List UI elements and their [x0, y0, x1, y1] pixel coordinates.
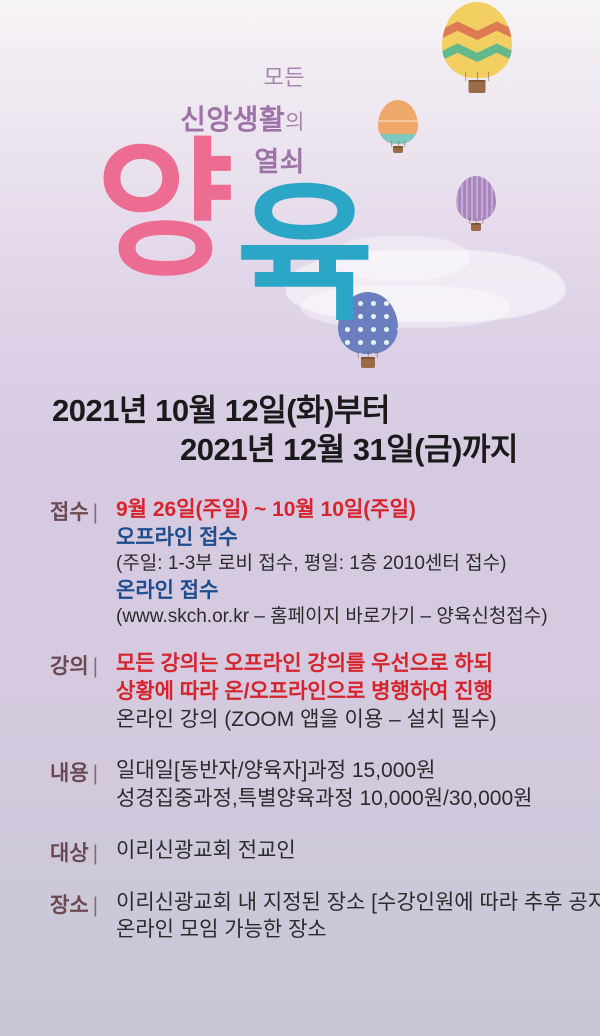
info-label-text: 장소	[50, 894, 89, 917]
info-label-divider: |	[89, 894, 98, 917]
info-line-text: (주일: 1-3부 로비 접수, 평일: 1층 2010센터 접수)	[116, 553, 506, 574]
info-line-text: 일대일[동반자/양육자]과정 15,000원	[116, 759, 435, 782]
page-title: 양 육	[96, 136, 496, 326]
info-line-text: 온라인 모임 가능한 장소	[116, 918, 327, 941]
info-label-text: 접수	[50, 501, 89, 524]
info-label-text: 대상	[50, 842, 89, 865]
info-row-접수: 접수|9월 26일(주일) ~ 10월 10일(주일)오프라인 접수(주일: 1…	[0, 496, 600, 629]
info-row-장소: 장소|이리신광교회 내 지정된 장소 [수강인원에 따라 추후 공지]온라인 모…	[0, 889, 600, 944]
subtitle-line-1: 모든	[264, 60, 305, 92]
info-label-접수: 접수|	[50, 496, 108, 526]
info-label-divider: |	[89, 762, 98, 785]
info-line: 이리신광교회 내 지정된 장소 [수강인원에 따라 추후 공지]	[116, 889, 600, 917]
info-label-text: 강의	[50, 655, 89, 678]
info-label-divider: |	[89, 501, 98, 524]
info-line-text: 상황에 따라 온/오프라인으로 병행하여 진행	[116, 680, 493, 703]
info-line-text: 이리신광교회 내 지정된 장소	[116, 891, 365, 914]
info-line-text: 성경집중과정,특별양육과정 10,000원/30,000원	[116, 787, 532, 810]
info-line-text: 이리신광교회 전교인	[116, 839, 296, 862]
info-line: (www.skch.or.kr – 홈페이지 바로가기 – 양육신청접수)	[116, 604, 600, 629]
headline-block: 모든 신앙생활의 열쇠 양 육	[0, 0, 600, 380]
info-line: 상황에 따라 온/오프라인으로 병행하여 진행	[116, 678, 600, 706]
info-line: 이리신광교회 전교인	[116, 837, 600, 865]
period-end: 2021년 12월 31일(금)까지	[0, 431, 600, 470]
info-line: 온라인 모임 가능한 장소	[116, 916, 600, 944]
title-char-yuk: 육	[236, 180, 374, 330]
info-line-text: 9월 26일(주일) ~ 10월 10일(주일)	[116, 498, 416, 521]
period-block: 2021년 10월 12일(화)부터 2021년 12월 31일(금)까지	[0, 392, 600, 470]
info-label-강의: 강의|	[50, 650, 108, 680]
info-label-divider: |	[89, 655, 98, 678]
info-line-text: 오프라인 접수	[116, 526, 238, 549]
info-label-장소: 장소|	[50, 889, 108, 919]
info-label-divider: |	[89, 842, 98, 865]
info-line: 일대일[동반자/양육자]과정 15,000원	[116, 757, 600, 785]
info-label-내용: 내용|	[50, 757, 108, 787]
info-label-대상: 대상|	[50, 837, 108, 867]
info-row-내용: 내용|일대일[동반자/양육자]과정 15,000원성경집중과정,특별양육과정 1…	[0, 757, 600, 812]
info-line-text: (www.skch.or.kr – 홈페이지 바로가기 – 양육신청접수)	[116, 606, 548, 627]
info-line-text: 온라인 접수	[116, 579, 218, 602]
info-line: 9월 26일(주일) ~ 10월 10일(주일)	[116, 496, 600, 524]
info-line: 모든 강의는 오프라인 강의를 우선으로 하되	[116, 650, 600, 678]
info-line: 성경집중과정,특별양육과정 10,000원/30,000원	[116, 785, 600, 813]
poster-canvas: 모든 신앙생활의 열쇠 양 육 2021년 10월 12일(화)부터 2021년…	[0, 0, 600, 1036]
info-line: 오프라인 접수	[116, 524, 600, 552]
subtitle-line-2-tail: 의	[285, 111, 305, 134]
info-line: 온라인 강의 (ZOOM 앱을 이용 – 설치 필수)	[116, 706, 600, 734]
info-row-대상: 대상|이리신광교회 전교인	[0, 837, 600, 865]
period-start: 2021년 10월 12일(화)부터	[0, 392, 600, 431]
title-char-yang: 양	[96, 136, 234, 286]
info-row-강의: 강의|모든 강의는 오프라인 강의를 우선으로 하되상황에 따라 온/오프라인으…	[0, 650, 600, 733]
info-sections: 접수|9월 26일(주일) ~ 10월 10일(주일)오프라인 접수(주일: 1…	[0, 496, 600, 955]
info-label-text: 내용	[50, 762, 89, 785]
info-line: (주일: 1-3부 로비 접수, 평일: 1층 2010센터 접수)	[116, 551, 600, 576]
info-line-text: 온라인 강의 (ZOOM 앱을 이용 – 설치 필수)	[116, 708, 497, 731]
info-line-note: [수강인원에 따라 추후 공지]	[365, 891, 600, 914]
info-line: 온라인 접수	[116, 577, 600, 605]
info-line-text: 모든 강의는 오프라인 강의를 우선으로 하되	[116, 652, 493, 675]
